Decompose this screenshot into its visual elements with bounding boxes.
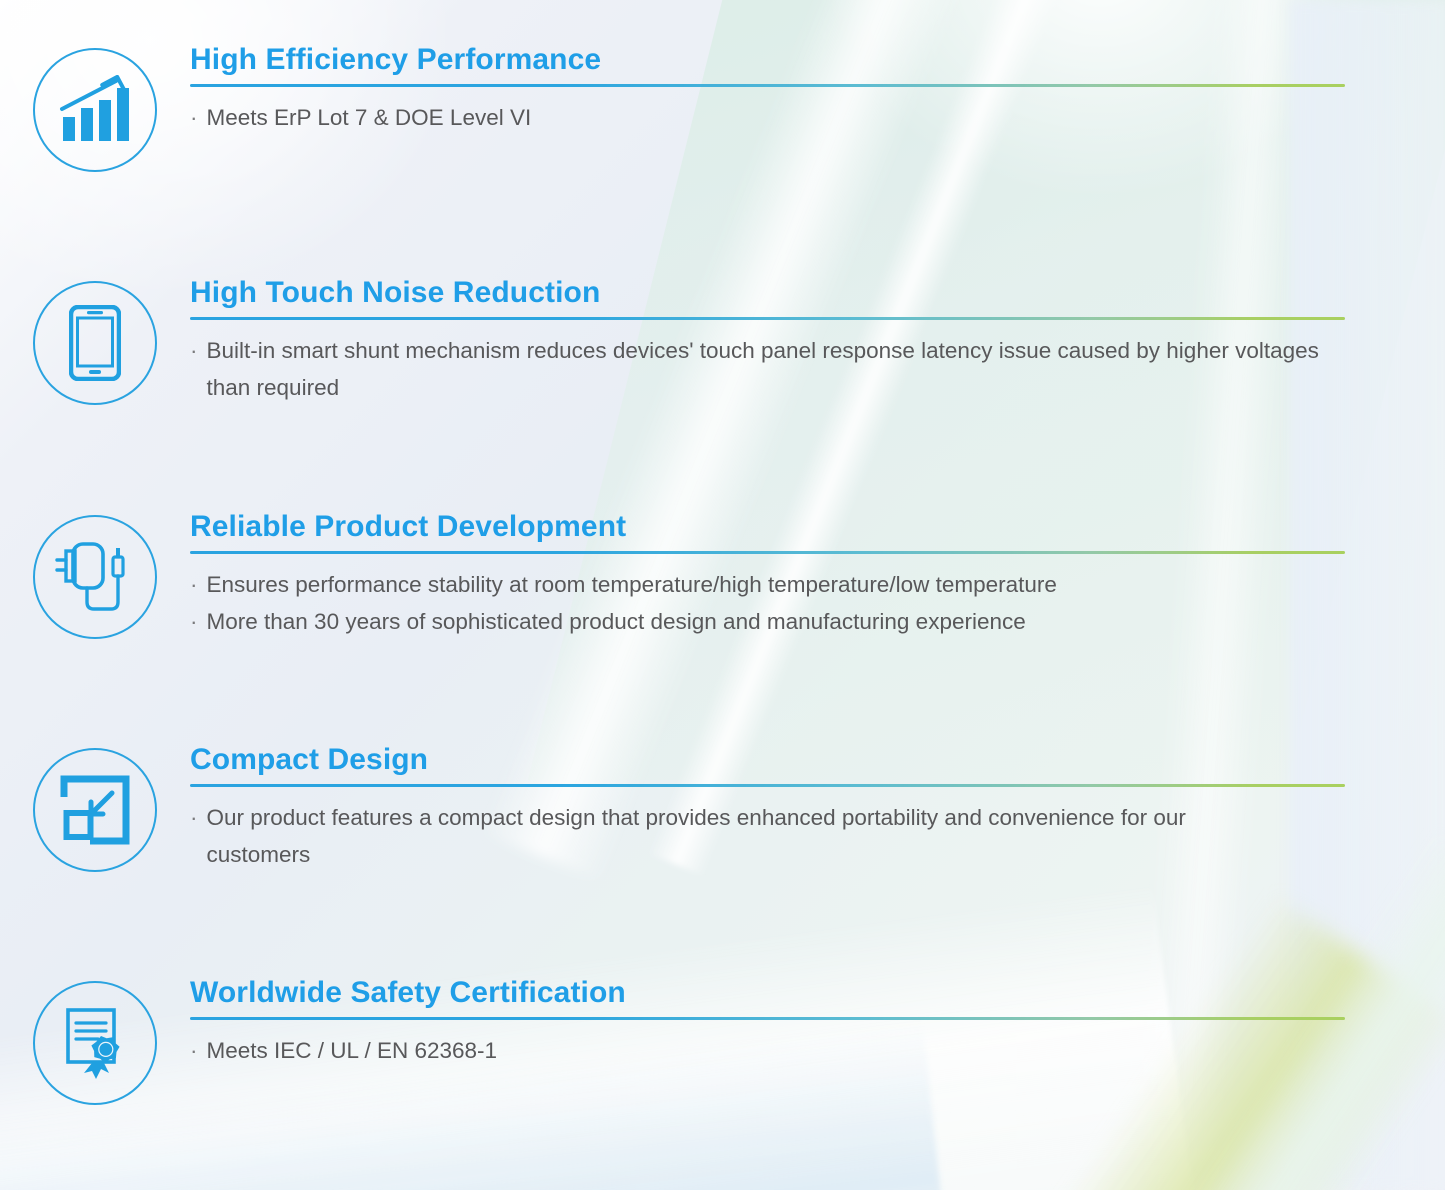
feature-body: High Touch Noise Reduction · Built-in sm…: [190, 277, 1445, 406]
power-adapter-icon: [33, 515, 157, 639]
feature-divider: [190, 317, 1345, 320]
feature-item-high-efficiency-performance: High Efficiency Performance · Meets ErP …: [0, 44, 1445, 172]
feature-divider: [190, 784, 1345, 787]
bullet-marker-icon: ·: [190, 604, 198, 640]
page-title: Compact Design: [190, 744, 1365, 776]
feature-bullet: · More than 30 years of sophisticated pr…: [190, 604, 1365, 640]
smartphone-icon: [33, 281, 157, 405]
feature-bullet: · Ensures performance stability at room …: [190, 567, 1365, 603]
feature-bullet: · Our product features a compact design …: [190, 800, 1365, 873]
feature-divider: [190, 551, 1345, 554]
feature-bullet: · Meets ErP Lot 7 & DOE Level VI: [190, 100, 1365, 136]
page-title: Worldwide Safety Certification: [190, 977, 1365, 1009]
feature-body: Reliable Product Development · Ensures p…: [190, 511, 1445, 640]
feature-item-reliable-product-development: Reliable Product Development · Ensures p…: [0, 511, 1445, 640]
feature-icon-slot: [0, 744, 190, 872]
bullet-marker-icon: ·: [190, 333, 198, 369]
feature-bullet-text: Built-in smart shunt mechanism reduces d…: [207, 333, 1347, 406]
feature-icon-slot: [0, 511, 190, 639]
bar-chart-growth-icon: [33, 48, 157, 172]
feature-divider: [190, 1017, 1345, 1020]
feature-icon-slot: [0, 44, 190, 172]
feature-bullet-text: Ensures performance stability at room te…: [207, 567, 1366, 603]
feature-bullet: · Meets IEC / UL / EN 62368-1: [190, 1033, 1365, 1069]
feature-bullet-text: Meets ErP Lot 7 & DOE Level VI: [207, 100, 1366, 136]
feature-body: High Efficiency Performance · Meets ErP …: [190, 44, 1445, 137]
bullet-marker-icon: ·: [190, 100, 198, 136]
page-title: High Efficiency Performance: [190, 44, 1365, 76]
feature-bullet-text: More than 30 years of sophisticated prod…: [207, 604, 1366, 640]
bullet-marker-icon: ·: [190, 800, 198, 836]
feature-bullet: · Built-in smart shunt mechanism reduces…: [190, 333, 1365, 406]
feature-divider: [190, 84, 1345, 87]
feature-icon-slot: [0, 277, 190, 405]
feature-item-high-touch-noise-reduction: High Touch Noise Reduction · Built-in sm…: [0, 277, 1445, 406]
feature-bullet-text: Meets IEC / UL / EN 62368-1: [207, 1033, 1366, 1069]
feature-list-page: High Efficiency Performance · Meets ErP …: [0, 0, 1445, 1190]
feature-item-worldwide-safety-certification: Worldwide Safety Certification · Meets I…: [0, 977, 1445, 1105]
feature-bullet-text: Our product features a compact design th…: [207, 800, 1287, 873]
page-title: Reliable Product Development: [190, 511, 1365, 543]
feature-body: Worldwide Safety Certification · Meets I…: [190, 977, 1445, 1070]
feature-item-compact-design: Compact Design · Our product features a …: [0, 744, 1445, 873]
feature-icon-slot: [0, 977, 190, 1105]
certificate-seal-icon: [33, 981, 157, 1105]
feature-body: Compact Design · Our product features a …: [190, 744, 1445, 873]
bullet-marker-icon: ·: [190, 567, 198, 603]
page-title: High Touch Noise Reduction: [190, 277, 1365, 309]
compact-resize-icon: [33, 748, 157, 872]
bullet-marker-icon: ·: [190, 1033, 198, 1069]
